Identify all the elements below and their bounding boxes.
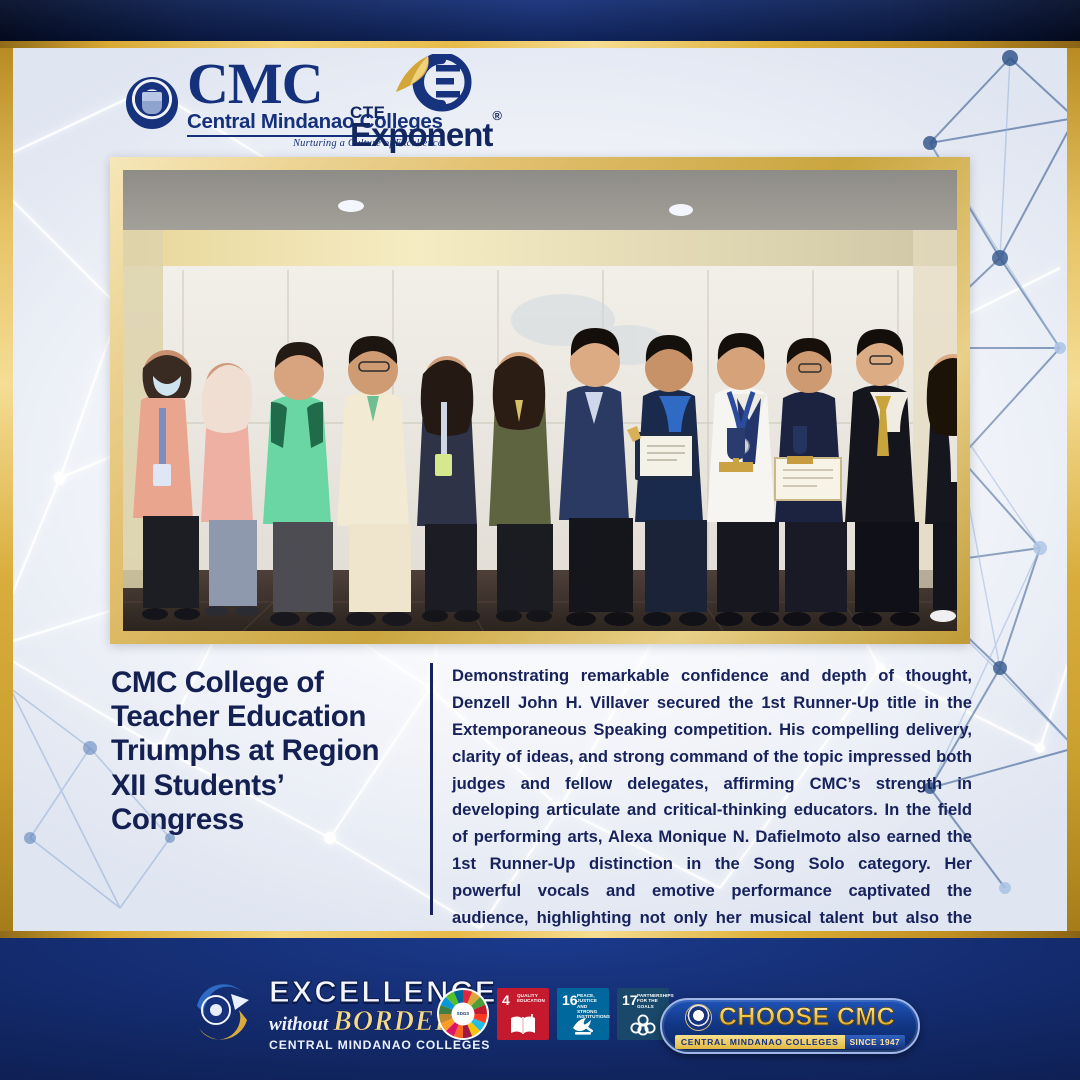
without-word: without [269,1015,328,1034]
poster-canvas: CMC Central Mindanao Colleges Nurturing … [0,0,1080,1080]
right-gold-accent-bar [1067,48,1080,932]
excellence-swoosh-seal-icon [185,976,259,1050]
article-headline: CMC College of Teacher Education Triumph… [111,666,411,837]
top-gold-rule [0,41,1080,48]
cmc-seal-icon [685,1004,712,1031]
sdg-tile-4: 4 Quality Education [497,988,549,1040]
dove-gavel-icon [569,1014,597,1036]
sdg-tile-16: 16 Peace, Justice and Strong Institution… [557,988,609,1040]
sdg-number: 4 [502,993,510,1007]
group-photo-illustration [123,170,957,631]
cte-wordmark: Exponent® [350,116,501,154]
sdg-name: Partnerships for the Goals [637,993,666,1009]
sdg-color-wheel-icon: SDGS [437,988,489,1040]
excellence-subline: CENTRAL MINDANAO COLLEGES [269,1039,497,1051]
cmc-seal-icon [126,77,178,129]
bottom-gold-rule [0,931,1080,938]
interlocking-rings-icon [630,1014,656,1036]
choose-cmc-badge[interactable]: CHOOSE CMC CENTRAL MINDANAO COLLEGES SIN… [660,998,920,1054]
vertical-divider [430,663,433,915]
cte-registered-mark: ® [492,108,501,123]
choose-cmc-title: CHOOSE CMC [719,1003,895,1032]
sdg-name: Quality Education [517,993,546,1004]
sdg-number: 17 [622,993,638,1007]
sdg-icon-row: SDGS 4 Quality Education 16 Peace, Justi… [437,988,669,1040]
group-photo [123,170,957,631]
cte-exponent-logo-lockup: CTE Exponent® [350,58,490,150]
photo-frame [110,157,970,644]
cte-word-text: Exponent [350,116,492,153]
sdg-wheel-label: SDGS [452,1003,474,1025]
open-book-icon [509,1014,537,1036]
sdg-number: 16 [562,993,578,1007]
cte-exponent-quill-icon [384,54,480,116]
top-navy-band [0,0,1080,41]
left-gold-accent-bar [0,48,13,932]
choose-cmc-since: SINCE 1947 [845,1035,906,1049]
choose-cmc-subtitle: CENTRAL MINDANAO COLLEGES [675,1035,845,1049]
